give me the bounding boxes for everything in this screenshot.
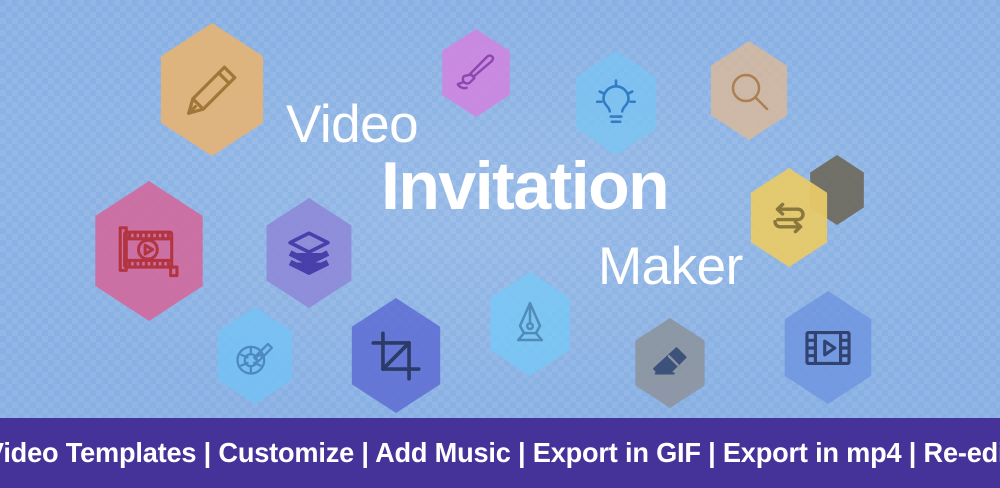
headline-line-maker: Maker (598, 240, 743, 293)
promo-banner: Video Invitation Maker Video Templates |… (0, 0, 1000, 488)
feature-list-bar: Video Templates | Customize | Add Music … (0, 418, 1000, 488)
headline-line-invitation: Invitation (381, 152, 668, 220)
headline-line-video: Video (286, 98, 418, 151)
feature-list-text: Video Templates | Customize | Add Music … (0, 437, 1000, 469)
